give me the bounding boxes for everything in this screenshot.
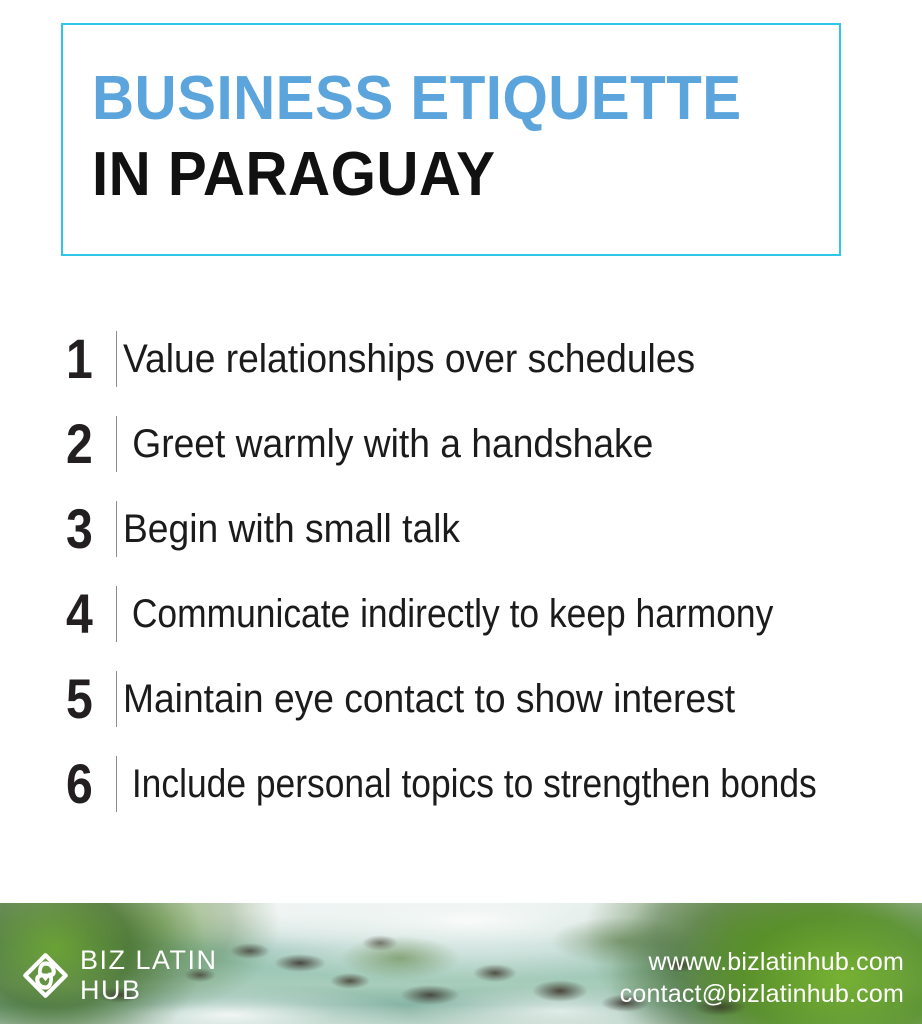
list-item-divider [116, 586, 117, 642]
contact-info: wwww.bizlatinhub.com contact@bizlatinhub… [620, 946, 904, 1010]
brand-logo[interactable]: BIZ LATIN HUB [22, 947, 218, 1004]
list-item: 2 Greet warmly with a handshake [0, 401, 922, 486]
logo-wordmark: BIZ LATIN HUB [80, 947, 218, 1004]
title-block: BUSINESS ETIQUETTE IN PARAGUAY [92, 61, 829, 213]
list-item-divider [116, 671, 117, 727]
logo-word-bizlatin: BIZ LATIN [80, 947, 218, 974]
list-item-number: 1 [66, 331, 109, 387]
title-box: BUSINESS ETIQUETTE IN PARAGUAY [61, 23, 841, 256]
list-item-divider [116, 756, 117, 812]
website-url[interactable]: wwww.bizlatinhub.com [620, 946, 904, 978]
list-item-number: 6 [66, 756, 109, 812]
list-item: 4 Communicate indirectly to keep harmony [0, 571, 922, 656]
infographic-poster: BUSINESS ETIQUETTE IN PARAGUAY 1 Value r… [0, 0, 922, 1024]
list-item-number: 5 [66, 671, 109, 727]
list-item-text: Maintain eye contact to show interest [123, 676, 866, 722]
list-item-text: Begin with small talk [123, 506, 866, 552]
list-item-number: 4 [66, 586, 109, 642]
list-item: 5 Maintain eye contact to show interest [0, 656, 922, 741]
list-item-text: Value relationships over schedules [123, 336, 866, 382]
list-item-text: Communicate indirectly to keep harmony [123, 591, 830, 637]
list-item-divider [116, 416, 117, 472]
biz-latin-hub-pinwheel-icon [22, 952, 69, 999]
list-item: 1 Value relationships over schedules [0, 316, 922, 401]
list-item: 3 Begin with small talk [0, 486, 922, 571]
title-line-secondary: IN PARAGUAY [92, 137, 785, 213]
list-item-number: 2 [66, 416, 109, 472]
list-item-divider [116, 331, 117, 387]
etiquette-tips-list: 1 Value relationships over schedules 2 G… [0, 316, 922, 826]
list-item-text: Include personal topics to strengthen bo… [123, 761, 830, 807]
list-item-number: 3 [66, 501, 109, 557]
list-item-text: Greet warmly with a handshake [123, 421, 866, 467]
email-address[interactable]: contact@bizlatinhub.com [620, 978, 904, 1010]
title-line-primary: BUSINESS ETIQUETTE [92, 61, 785, 137]
list-item-divider [116, 501, 117, 557]
list-item: 6 Include personal topics to strengthen … [0, 741, 922, 826]
logo-word-hub: HUB [80, 977, 218, 1004]
